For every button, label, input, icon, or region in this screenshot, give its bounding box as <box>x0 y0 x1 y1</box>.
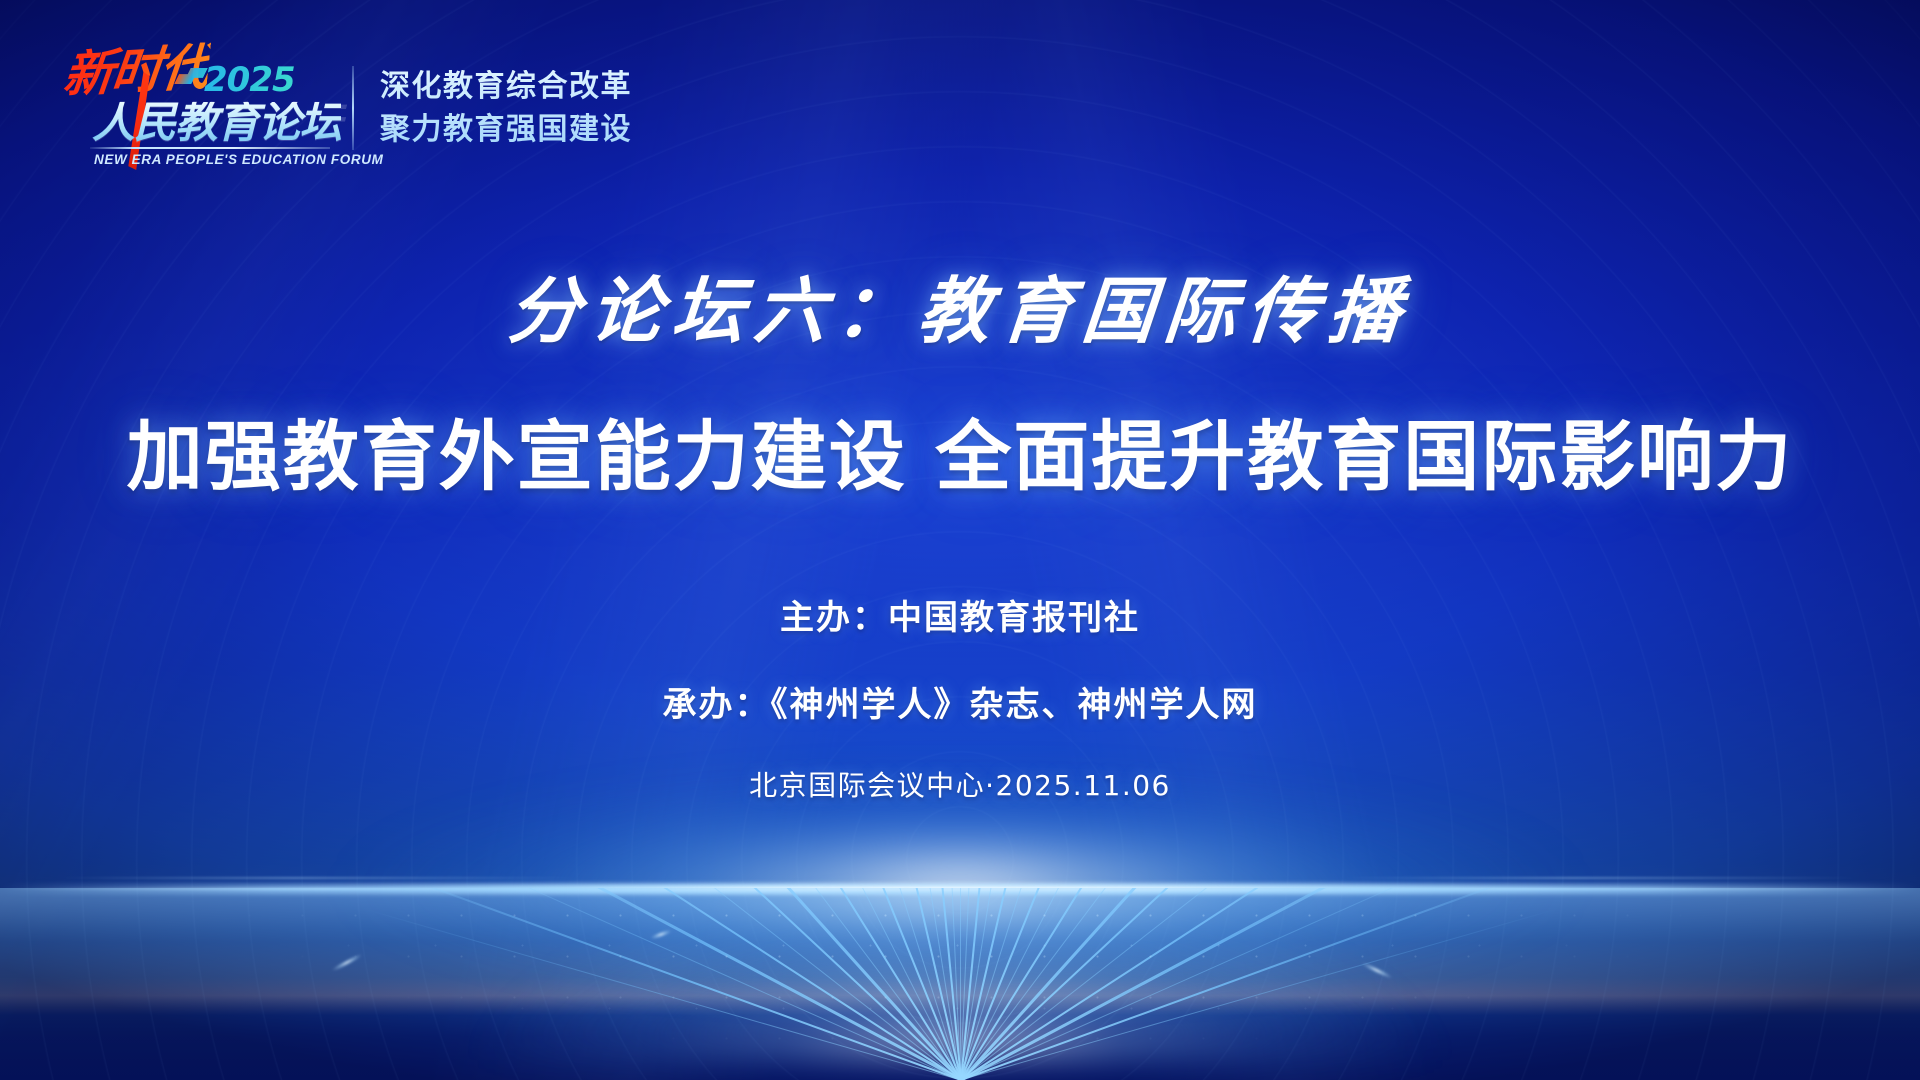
poster-info-lines: 主办：中国教育报刊社 承办：《神州学人》杂志、神州学人网 北京国际会议中心·20… <box>0 590 1920 804</box>
event-logo: 新时代 2025 人民教育论坛 NEW ERA PEOPLE'S EDUCATI… <box>58 44 632 172</box>
logo-era-text: 新时代 <box>61 42 211 100</box>
slogan-line-1: 深化教育综合改革 <box>380 70 632 104</box>
host-line: 主办：中国教育报刊社 <box>780 590 1140 639</box>
logo-slogan: 深化教育综合改革 聚力教育强国建设 <box>380 70 632 146</box>
logo-divider <box>352 66 354 150</box>
logo-year-text: 2025 <box>204 60 295 100</box>
logo-mark: 新时代 2025 人民教育论坛 NEW ERA PEOPLE'S EDUCATI… <box>58 44 330 172</box>
floor-particles <box>0 888 1920 1080</box>
logo-forum-text: 人民教育论坛 <box>92 102 341 145</box>
horizon-streak-left-upper <box>60 877 580 879</box>
perspective-floor <box>0 888 1920 1080</box>
logo-english-text: NEW ERA PEOPLE'S EDUCATION FORUM <box>94 152 383 167</box>
poster-headline: 加强教育外宣能力建设 全面提升教育国际影响力 <box>0 395 1920 505</box>
poster-stage: 新时代 2025 人民教育论坛 NEW ERA PEOPLE'S EDUCATI… <box>0 0 1920 1080</box>
venue-date-line: 北京国际会议中心·2025.11.06 <box>749 764 1171 804</box>
logo-underline <box>90 147 330 149</box>
forum-calligraphy-title: 分论坛六：教育国际传播 <box>0 252 1920 357</box>
horizon-streak-right-upper <box>1340 877 1860 879</box>
organizer-line: 承办：《神州学人》杂志、神州学人网 <box>663 677 1258 726</box>
slogan-line-2: 聚力教育强国建设 <box>380 113 632 147</box>
